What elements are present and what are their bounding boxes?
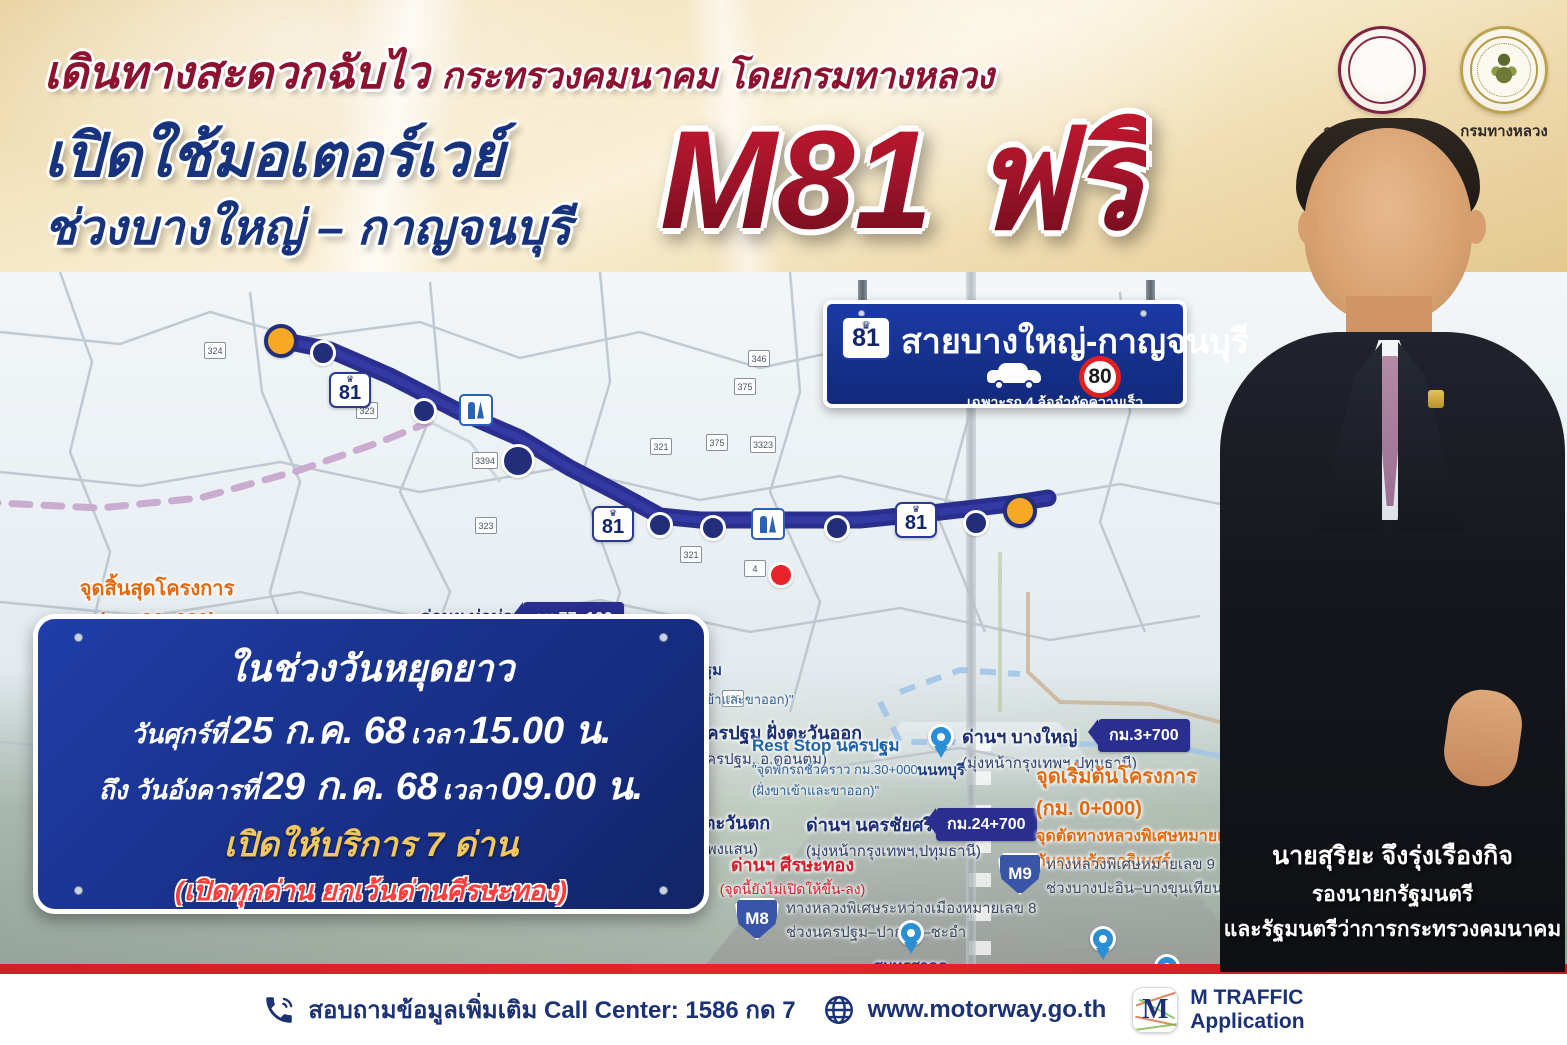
route-node-1 — [310, 340, 336, 366]
route-number-4: 4 — [744, 560, 766, 577]
minister-face — [1304, 128, 1472, 324]
footer-bar: สอบถามข้อมูลเพิ่มเติม Call Center: 1586 … — [0, 974, 1567, 1045]
minister-ear-right — [1466, 210, 1486, 244]
panel-heading: ในช่วงวันหยุดยาว — [38, 639, 704, 698]
city-pin-bangkok — [1090, 926, 1116, 960]
route-sign-title: สายบางใหญ่-กาญจนบุรี — [901, 314, 1249, 368]
route-number-321b: 321 — [680, 546, 702, 563]
header-m81-free-title: M81 ฟรี — [660, 110, 1146, 250]
panel-start-datetime: วันศุกร์ที่ 25 ก.ค. 68 เวลา 15.00 น. — [38, 699, 704, 760]
minister-title-2: และรัฐมนตรีว่าการกระทรวงคมนาคม — [1218, 913, 1567, 946]
app-line-1: M TRAFFIC — [1190, 986, 1304, 1010]
header-line2: เปิดใช้มอเตอร์เวย์ — [44, 108, 504, 203]
panel-end-datetime: ถึง วันอังคารที่ 29 ก.ค. 68 เวลา 09.00 น… — [38, 755, 704, 816]
ministry-of-transport-logo — [1338, 26, 1426, 114]
minister-ear-left — [1298, 210, 1318, 244]
rest-stop-icon-tha-maka — [459, 394, 493, 426]
motorway-shield-81-c: ♛81 — [895, 502, 937, 538]
motorway-shield-81-a: ♛81 — [329, 372, 371, 408]
footer-call-center: สอบถามข้อมูลเพิ่มเติม Call Center: 1586 … — [262, 990, 795, 1029]
m-traffic-app-icon: M — [1132, 987, 1178, 1033]
panel-exception-note: (เปิดทุกด่าน ยกเว้นด่านศีรษะทอง) — [38, 869, 704, 912]
minister-name: นายสุริยะ จึงรุ่งเรืองกิจ — [1218, 836, 1567, 876]
project-start-node — [1003, 494, 1037, 528]
footer-m-traffic-app[interactable]: M M TRAFFIC Application — [1132, 986, 1304, 1033]
panel-start-date: 25 ก.ค. 68 — [231, 710, 406, 752]
header-line3: ช่วงบางใหญ่ – กาญจนบุรี — [44, 190, 571, 266]
route-node-tha-muang — [411, 398, 437, 424]
route-sign-panel: ♛ 81 สายบางใหญ่-กาญจนบุรี เฉพาะรถ 4 ล้อ … — [823, 300, 1187, 408]
route-note-m9n-l2: ช่วงบางปะอิน–บางขุนเทียน — [1046, 876, 1222, 900]
panel-start-time-prefix: เวลา — [411, 719, 465, 749]
route-node-bang-yai — [963, 510, 989, 536]
panel-open-gates-count: เปิดให้บริการ 7 ด่าน — [38, 817, 704, 871]
sisa-thong-gate-node — [768, 562, 794, 588]
route-sign-shield-81: ♛ 81 — [841, 316, 891, 360]
minister-lapel-pin — [1428, 390, 1444, 408]
route-node-nakhon-chai-si — [824, 515, 850, 541]
city-label-nonthaburi: นนทบุรี — [882, 758, 1000, 782]
km-tag-bang-yai: กม.3+700 — [1098, 719, 1190, 752]
closed-gate-sisa-thong: ด่านฯ ศีรษะทอง (จุดนี้ยังไม่เปิดให้ขึ้น-… — [700, 850, 885, 901]
app-line-2: Application — [1190, 1010, 1304, 1034]
route-node-np-west — [647, 512, 673, 538]
route-number-375b: 375 — [706, 434, 728, 451]
m-traffic-app-label: M TRAFFIC Application — [1190, 986, 1304, 1033]
route-node-tha-maka — [501, 444, 535, 478]
panel-end-time: 09.00 น. — [501, 766, 643, 808]
schedule-info-panel: ในช่วงวันหยุดยาว วันศุกร์ที่ 25 ก.ค. 68 … — [33, 614, 709, 914]
route-sign-car-caption: เฉพาะรถ 4 ล้อ — [967, 392, 1054, 414]
header-tagline: เดินทางสะดวกฉับไว กระทรวงคมนาคม โดยกรมทา… — [44, 36, 993, 108]
motorway-shield-81-b: ♛81 — [592, 506, 634, 542]
minister-portrait: นายสุริยะ จึงรุ่งเรืองกิจ รองนายกรัฐมนตร… — [1218, 118, 1567, 972]
header-tagline-main: เดินทางสะดวกฉับไว — [44, 47, 429, 98]
project-end-title: จุดสิ้นสุดโครงการ — [42, 572, 272, 604]
panel-start-day-prefix: วันศุกร์ที่ — [131, 719, 227, 749]
route-number-3394: 3394 — [472, 452, 498, 469]
phone-icon — [262, 993, 296, 1027]
header-tagline-sub: กระทรวงคมนาคม โดยกรมทางหลวง — [441, 55, 993, 96]
city-pin-nonthaburi — [928, 724, 954, 758]
city-pin-samut-sakhon — [898, 920, 924, 954]
route-sign-speed-caption: จำกัดความเร็ว — [1055, 392, 1143, 414]
minister-title-1: รองนายกรัฐมนตรี — [1218, 878, 1567, 911]
globe-icon — [822, 993, 856, 1027]
panel-end-date: 29 ก.ค. 68 — [263, 766, 438, 808]
rest-stop-np-name: Rest Stop นครปฐม — [752, 732, 918, 759]
panel-start-time: 15.00 น. — [469, 710, 611, 752]
rest-stop-icon-nakhon-pathom — [751, 508, 785, 540]
closed-gate-name: ด่านฯ ศีรษะทอง — [700, 850, 885, 879]
car-icon — [987, 362, 1041, 388]
route-note-m8-l1: ทางหลวงพิเศษระหว่างเมืองหมายเลข 8 — [786, 896, 1036, 920]
infographic-poster: เดินทางสะดวกฉับไว กระทรวงคมนาคม โดยกรมทา… — [0, 0, 1567, 1045]
department-of-highways-logo — [1460, 26, 1548, 114]
footer-website[interactable]: www.motorway.go.th — [822, 993, 1107, 1027]
project-end-node — [264, 324, 298, 358]
route-number-346: 346 — [748, 350, 770, 367]
route-number-3323: 3323 — [750, 436, 776, 453]
route-number-321: 321 — [650, 438, 672, 455]
minister-name-block: นายสุริยะ จึงรุ่งเรืองกิจ รองนายกรัฐมนตร… — [1218, 836, 1567, 946]
panel-end-time-prefix: เวลา — [442, 775, 496, 805]
km-tag-ncs: กม.24+700 — [936, 808, 1037, 841]
panel-end-day-prefix: ถึง วันอังคารที่ — [99, 775, 258, 805]
route-note-m9-north: ทางหลวงพิเศษหมายเลข 9 ช่วงบางปะอิน–บางขุ… — [1046, 852, 1222, 900]
route-number-324: 324 — [204, 342, 226, 359]
footer-website-text[interactable]: www.motorway.go.th — [868, 996, 1107, 1024]
route-note-m9n-l1: ทางหลวงพิเศษหมายเลข 9 — [1046, 852, 1222, 876]
route-number-375: 375 — [734, 378, 756, 395]
rest-stop-np-note2: (ฝั่งขาเข้าและขาออก)" — [752, 780, 918, 801]
route-node-np-east — [700, 515, 726, 541]
route-number-323b: 323 — [475, 517, 497, 534]
footer-call-center-text: สอบถามข้อมูลเพิ่มเติม Call Center: 1586 … — [308, 990, 795, 1029]
